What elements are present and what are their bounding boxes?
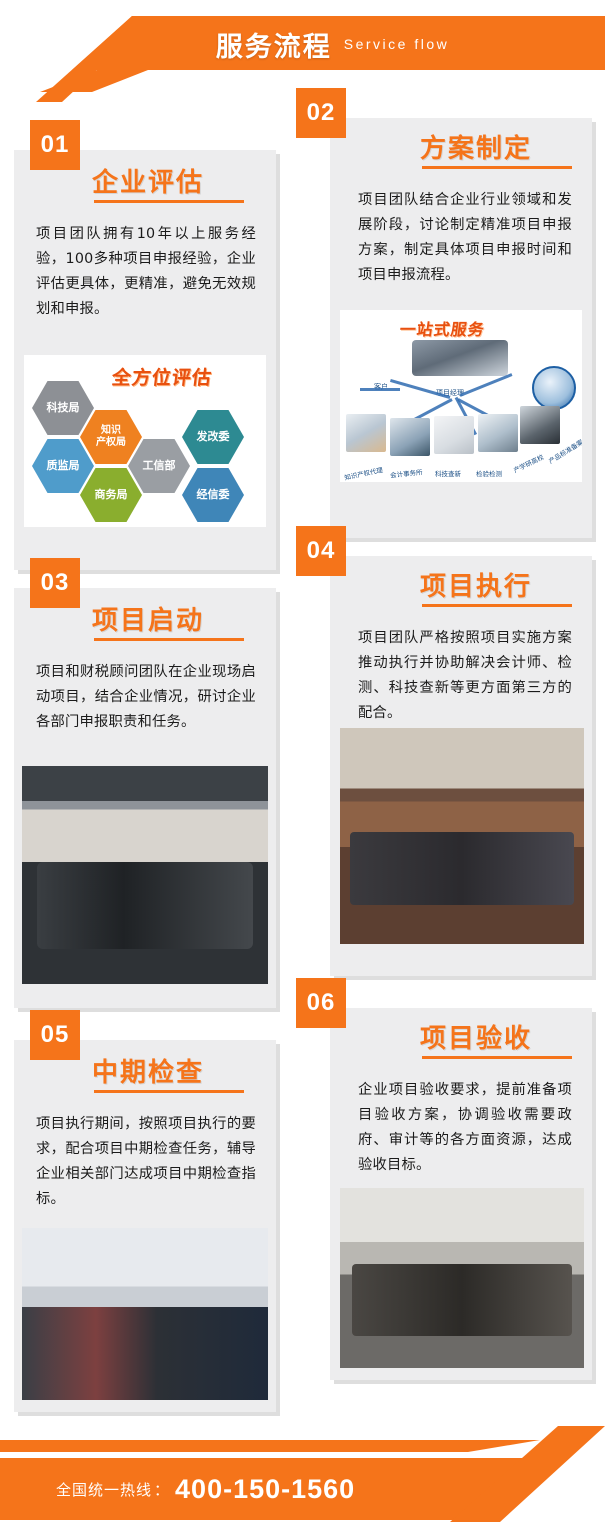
header-banner: 服务流程 Service flow: [0, 0, 605, 100]
hex-node-keji: 科技局: [32, 381, 94, 435]
step-number-badge: 06: [296, 978, 346, 1028]
hexagon-assessment-diagram: 全方位评估 科技局 质监局 知识产权局 商务局 工信部 发改委 经信委: [24, 355, 266, 527]
service-thumb-testing: [478, 414, 518, 452]
step-title: 方案制定: [420, 128, 532, 165]
service-node-label-4: 检验检测: [476, 468, 502, 478]
service-diagram-title: 一站式服务: [398, 316, 486, 340]
title-underline: [422, 166, 572, 169]
hotline-separator: ：: [154, 1479, 169, 1500]
service-thumb-search: [434, 416, 474, 454]
step-card-05[interactable]: 05 中期检查 项目执行期间，按照项目执行的要求，配合项目中期检查任务，辅导企业…: [14, 1040, 276, 1412]
step-photo-lobby-visit: [22, 1228, 268, 1400]
page-title: 服务流程: [216, 25, 332, 64]
header-title-group: 服务流程 Service flow: [0, 22, 605, 66]
step-photo-acceptance-meeting: [340, 1188, 584, 1368]
arrow-icon: [459, 373, 512, 397]
step-description: 项目执行期间，按照项目执行的要求，配合项目中期检查任务，辅导企业相关部门达成项目…: [36, 1112, 256, 1212]
step-description: 项目团队严格按照项目实施方案推动执行并协助解决会计师、检测、科技查新等更方面第三…: [358, 626, 572, 726]
footer-top-stripe: [0, 1440, 605, 1452]
hotline-label: 全国统一热线: [56, 1479, 152, 1500]
step-title: 项目执行: [420, 566, 532, 603]
step-title: 项目启动: [92, 600, 204, 637]
step-card-04[interactable]: 04 项目执行 项目团队严格按照项目实施方案推动执行并协助解决会计师、检测、科技…: [330, 556, 592, 976]
step-number-badge: 03: [30, 558, 80, 608]
hex-node-gongxin: 工信部: [128, 439, 190, 493]
service-node-label-3: 科技查新: [435, 468, 461, 478]
title-underline: [422, 604, 572, 607]
step-description: 项目和财税顾问团队在企业现场启动项目，结合企业情况，研讨企业各部门申报职责和任务…: [36, 660, 256, 735]
service-thumb-university: [520, 406, 560, 444]
card-grid: 01 企业评估 项目团队拥有10年以上服务经验，100多种项目申报经验，企业评估…: [0, 100, 605, 1430]
footer-banner: 全国统一热线 ： 400-150-1560: [0, 1426, 605, 1538]
certification-seal-icon: [532, 366, 576, 410]
page-subtitle: Service flow: [344, 36, 449, 52]
hotline-number[interactable]: 400-150-1560: [175, 1474, 355, 1505]
title-underline: [94, 200, 244, 203]
service-flow-infographic: 服务流程 Service flow 01 企业评估 项目团队拥有10年以上服务经…: [0, 0, 605, 1538]
step-title: 企业评估: [92, 162, 204, 199]
service-node-label-2: 会计事务所: [390, 466, 423, 479]
service-thumb-ip: [346, 414, 386, 452]
step-description: 企业项目验收要求，提前准备项目验收方案，协调验收需要政府、审计等的各方面资源，达…: [358, 1078, 572, 1178]
step-photo-working-session: [340, 728, 584, 944]
hex-node-zhijian: 质监局: [32, 439, 94, 493]
step-number-badge: 01: [30, 120, 80, 170]
step-photo-meeting-room: [22, 766, 268, 984]
hotline-group: 全国统一热线 ： 400-150-1560: [56, 1458, 355, 1520]
step-number-badge: 02: [296, 88, 346, 138]
service-hub-photo: [412, 340, 508, 376]
step-description: 项目团队拥有10年以上服务经验，100多种项目申报经验，企业评估更具体，更精准，…: [36, 222, 256, 322]
hex-node-jingxin: 经信委: [182, 468, 244, 522]
step-number-badge: 04: [296, 526, 346, 576]
step-card-02[interactable]: 02 方案制定 项目团队结合企业行业领域和发展阶段，讨论制定精准项目申报方案，制…: [330, 118, 592, 538]
one-stop-service-diagram: 一站式服务 客户 项目经理 知识产权代理 会计事务所 科技查新: [340, 310, 582, 482]
hex-node-zhishichanquan: 知识产权局: [80, 410, 142, 464]
service-node-label-5: 产学研高校: [511, 451, 545, 474]
service-node-label-1: 知识产权代理: [343, 464, 383, 482]
step-card-03[interactable]: 03 项目启动 项目和财税顾问团队在企业现场启动项目，结合企业情况，研讨企业各部…: [14, 588, 276, 1008]
title-underline: [94, 638, 244, 641]
step-description: 项目团队结合企业行业领域和发展阶段，讨论制定精准项目申报方案，制定具体项目申报时…: [358, 188, 572, 288]
service-thumb-accounting: [390, 418, 430, 456]
step-number-badge: 05: [30, 1010, 80, 1060]
arrow-icon: [360, 388, 400, 391]
title-underline: [422, 1056, 572, 1059]
title-underline: [94, 1090, 244, 1093]
hexagon-diagram-title: 全方位评估: [110, 363, 213, 390]
step-card-01[interactable]: 01 企业评估 项目团队拥有10年以上服务经验，100多种项目申报经验，企业评估…: [14, 150, 276, 570]
step-title: 中期检查: [92, 1052, 204, 1089]
hex-node-shangwu: 商务局: [80, 468, 142, 522]
step-title: 项目验收: [420, 1018, 532, 1055]
hex-node-fagai: 发改委: [182, 410, 244, 464]
step-card-06[interactable]: 06 项目验收 企业项目验收要求，提前准备项目验收方案，协调验收需要政府、审计等…: [330, 1008, 592, 1380]
